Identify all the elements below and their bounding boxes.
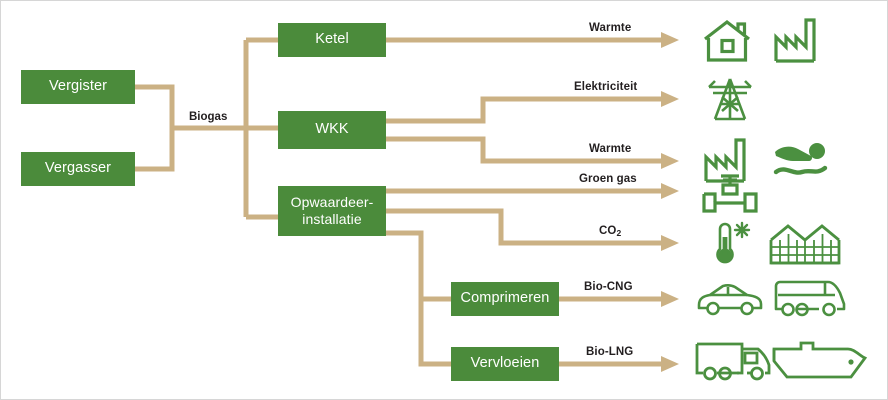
flow-label-groen-gas: Groen gas bbox=[579, 173, 637, 185]
swimmer-icon bbox=[773, 139, 833, 181]
snowflake-icon bbox=[735, 223, 749, 237]
line-opwaardeer-comprimeren bbox=[386, 233, 451, 299]
icon-group-bio-cng bbox=[697, 283, 763, 317]
arrowhead-groen-gas bbox=[661, 183, 679, 199]
line-opwaardeer-vervloeien bbox=[421, 299, 451, 364]
process-box-label: Ketel bbox=[315, 31, 349, 48]
icon-bus-wrap bbox=[773, 279, 847, 319]
icon-group-warmte-ketel bbox=[701, 19, 755, 63]
thermometer-snowflake-icon bbox=[713, 221, 753, 265]
arrowhead-warmte-wkk bbox=[661, 153, 679, 169]
icon-ship-wrap bbox=[771, 341, 867, 383]
process-box-label: Vervloeien bbox=[471, 355, 540, 372]
icon-group-bio-lng bbox=[695, 341, 773, 383]
flow-label-co2: CO2 bbox=[599, 225, 621, 237]
process-box-opwaardeer-installatie[interactable]: Opwaardeer- installatie bbox=[278, 186, 386, 236]
process-box-vergasser[interactable]: Vergasser bbox=[21, 152, 135, 186]
icon-swimmer-wrap bbox=[773, 139, 833, 181]
arrow-heads bbox=[661, 32, 679, 372]
house-icon bbox=[701, 19, 755, 63]
line-wkk-elektriciteit bbox=[386, 99, 663, 121]
process-box-label: Vergasser bbox=[45, 160, 111, 177]
process-box-label: Comprimeren bbox=[461, 290, 550, 307]
gas-valve-icon bbox=[701, 173, 759, 215]
process-box-wkk[interactable]: WKK bbox=[278, 111, 386, 149]
process-box-comprimeren[interactable]: Comprimeren bbox=[451, 282, 559, 316]
bus-icon bbox=[773, 279, 847, 319]
factory-icon bbox=[773, 17, 823, 63]
arrowhead-bio-cng bbox=[661, 291, 679, 307]
process-box-label-line2: installatie bbox=[302, 211, 361, 228]
car-icon bbox=[697, 283, 763, 317]
truck-icon bbox=[695, 341, 773, 383]
biogas-flow-diagram: Vergister Vergasser Ketel WKK Opwaardeer… bbox=[0, 0, 888, 400]
icon-group-elektriciteit bbox=[704, 77, 756, 121]
process-box-label: Vergister bbox=[49, 78, 107, 95]
process-box-label-line1: Opwaardeer- bbox=[291, 194, 374, 211]
flow-label-co2-subscript: 2 bbox=[616, 228, 621, 238]
icon-greenhouse-wrap bbox=[769, 223, 843, 265]
flow-label-warmte-wkk: Warmte bbox=[589, 143, 631, 155]
arrowhead-elektriciteit bbox=[661, 91, 679, 107]
ship-icon bbox=[771, 341, 867, 383]
line-opwaardeer-co2 bbox=[386, 211, 663, 243]
process-box-vervloeien[interactable]: Vervloeien bbox=[451, 347, 559, 381]
line-sources-to-bus bbox=[135, 87, 172, 169]
process-box-vergister[interactable]: Vergister bbox=[21, 70, 135, 104]
process-box-label: WKK bbox=[315, 121, 348, 138]
flow-label-bio-lng: Bio-LNG bbox=[586, 346, 633, 358]
icon-group-groen-gas bbox=[701, 173, 759, 215]
flow-label-elektriciteit: Elektriciteit bbox=[574, 81, 637, 93]
biogas-label: Biogas bbox=[187, 111, 229, 123]
flow-label-bio-cng: Bio-CNG bbox=[584, 281, 633, 293]
flow-label-co2-text: CO bbox=[599, 225, 616, 237]
process-box-ketel[interactable]: Ketel bbox=[278, 23, 386, 57]
arrowhead-bio-lng bbox=[661, 356, 679, 372]
icon-group-co2 bbox=[713, 221, 753, 265]
arrowhead-co2 bbox=[661, 235, 679, 251]
greenhouse-icon bbox=[769, 223, 843, 265]
icon-factory-warmte-ketel-wrap bbox=[773, 17, 823, 63]
flow-label-warmte-ketel: Warmte bbox=[589, 22, 631, 34]
power-pylon-icon bbox=[704, 77, 756, 121]
arrowhead-warmte-ketel bbox=[661, 32, 679, 48]
